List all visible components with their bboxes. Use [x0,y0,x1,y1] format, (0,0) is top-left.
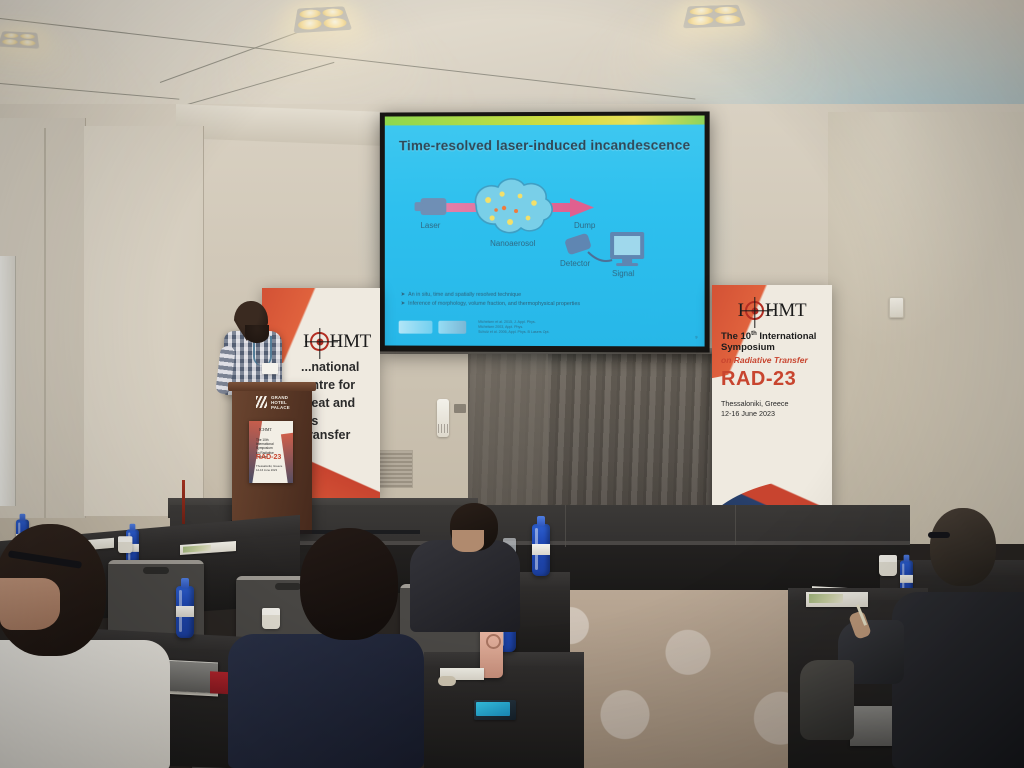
ceiling-seam [0,83,179,100]
left-wall-panel [84,126,204,516]
wall-panel-seam [44,128,46,518]
label-laser: Laser [421,221,441,230]
attendee-face [0,578,60,630]
attendee-head [930,508,996,586]
poster-ichmt-logo: ICHMT [259,427,272,432]
podium-poster-rad23: ICHMT The 10th International Symposium o… [249,421,293,483]
label-signal: Signal [612,269,635,278]
ichmt-logo-icon: I HMT [721,301,823,320]
slide-footer: Michelsen et al. 2015, J. Appl. Phys. Mi… [399,314,699,341]
hotel-logo: GRAND HOTEL PALACE [256,392,306,412]
attendee-leg [800,660,854,740]
ichmt-logo-icon: I HMT [303,332,371,351]
banner-title-line1: The 10th International [721,329,823,342]
tum-logo-icon [438,320,466,333]
coffee-cup[interactable] [118,536,132,553]
banner-left-line: ...national [301,360,371,374]
eyeglasses-icon [928,532,950,538]
poster-event-code: RAD-23 [256,454,281,461]
lii-diagram: Laser Nanoaerosol Dump Detector Signal [385,170,705,301]
ceiling-light-icon [293,6,352,33]
podium-top-surface [228,382,316,391]
coffee-cup[interactable] [262,608,280,629]
floor-marker [182,480,185,524]
banner-right-rad23: I HMT The 10th International Symposium o… [712,285,832,537]
banner-location: Thessaloniki, Greece 12-16 June 2023 [721,399,823,418]
conference-room-photo: Time-resolved laser-induced incandescenc… [0,0,1024,768]
smartphone[interactable] [474,700,516,720]
air-vent-icon [377,450,413,488]
grand-hotel-palace-mark-icon [256,396,267,408]
ceiling-light-icon [0,31,39,49]
slide-bullet-list: ➤An in situ, time and spatially resolved… [401,291,691,310]
water-bottle[interactable] [532,524,550,576]
label-nanoaerosol: Nanoaerosol [490,239,535,248]
ichmt-target-icon [310,332,328,351]
slide-accent-band [385,115,705,125]
banner-title-line2: Symposium [721,342,823,353]
slide-title: Time-resolved laser-induced incandescenc… [385,138,705,154]
waterloo-logo-icon [399,320,433,333]
water-bottle[interactable] [176,586,194,638]
speaker-beard [245,325,269,343]
attendee-torso [0,640,170,768]
slide-page-number: 9 [695,334,697,339]
attendee-torso [228,634,424,768]
slide-bullet: ➤Inference of morphology, volume fractio… [401,300,691,310]
attendee-torso [410,540,520,632]
door-frame[interactable] [0,256,16,506]
ceiling-light-icon [683,5,746,29]
ichmt-target-icon [745,301,764,320]
slide-references: Michelsen et al. 2015, J. Appl. Phys. Mi… [478,319,549,334]
poster-location: Thessaloniki, Greece 12-16 June 2023 [256,465,282,472]
banner-subtitle: on Radiative Transfer [721,355,823,365]
thermostat-icon[interactable] [889,297,904,318]
wall-phone-icon[interactable] [437,399,449,437]
right-wall-highlight [828,112,1024,352]
presentation-slide: Time-resolved laser-induced incandescenc… [385,115,705,346]
stage-seam [565,505,566,547]
banner-event-code: RAD-23 [721,368,823,391]
projection-screen: Time-resolved laser-induced incandescenc… [380,111,710,352]
label-detector: Detector [560,259,591,268]
attendee-head [300,528,398,640]
ceiling-seam [0,18,695,99]
wall-keypad-icon[interactable] [454,404,466,413]
pastry-item [438,676,456,686]
laptop-closed[interactable] [850,706,898,746]
speaker-name-badge [262,363,278,374]
coffee-cup[interactable] [879,555,897,576]
hotel-logo-text: GRAND HOTEL PALACE [271,395,290,410]
attendee-torso [892,592,1024,768]
label-dump: Dump [574,221,596,230]
stage-seam [735,505,736,545]
attendee-face [452,530,484,552]
